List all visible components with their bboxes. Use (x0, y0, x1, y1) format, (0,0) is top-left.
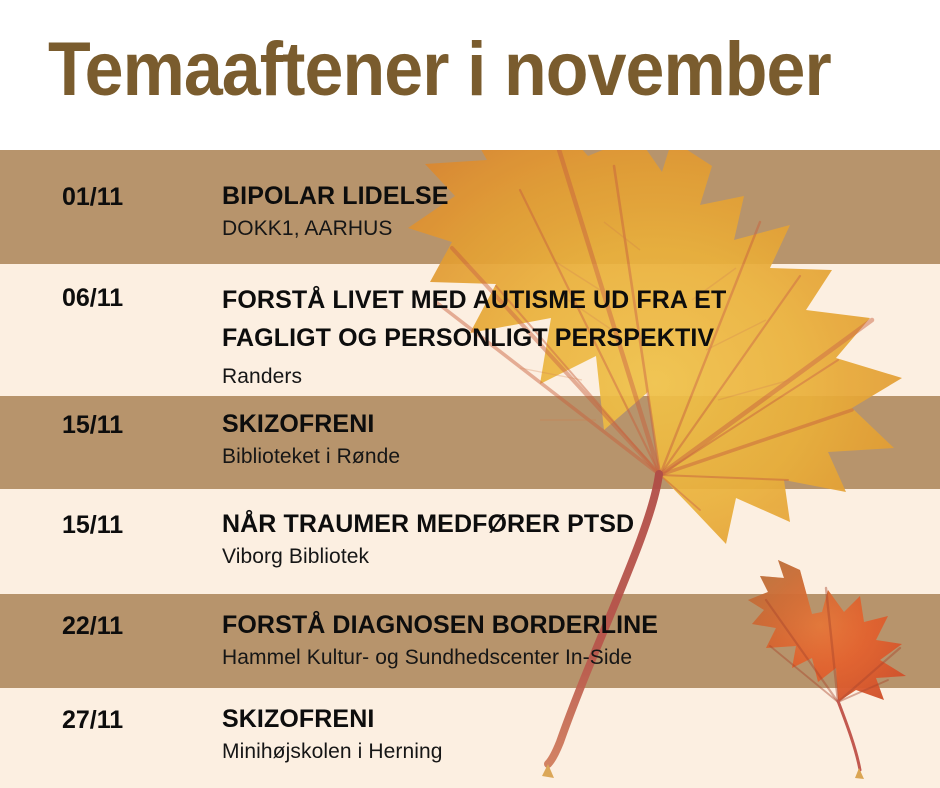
event-date: 15/11 (62, 411, 123, 440)
event-venue: Biblioteket i Rønde (222, 443, 922, 471)
schedule-row-6: 27/11 SKIZOFRENI Minihøjskolen i Herning (0, 688, 940, 788)
schedule-row-3: 15/11 SKIZOFRENI Biblioteket i Rønde (0, 396, 940, 489)
event-title: NÅR TRAUMER MEDFØRER PTSD (222, 508, 922, 541)
poster-header: Temaaftener i november (0, 0, 940, 150)
event-date: 27/11 (62, 706, 123, 735)
event-body: FORSTÅ LIVET MED AUTISME UD FRA ET FAGLI… (222, 281, 922, 391)
schedule-row-2: 06/11 FORSTÅ LIVET MED AUTISME UD FRA ET… (0, 264, 940, 396)
event-title: BIPOLAR LIDELSE (222, 180, 922, 213)
schedule-row-5: 22/11 FORSTÅ DIAGNOSEN BORDERLINE Hammel… (0, 594, 940, 688)
event-title: FORSTÅ LIVET MED AUTISME UD FRA ET FAGLI… (222, 281, 922, 357)
event-body: FORSTÅ DIAGNOSEN BORDERLINE Hammel Kultu… (222, 609, 922, 672)
event-venue: Viborg Bibliotek (222, 543, 922, 571)
event-title: SKIZOFRENI (222, 408, 922, 441)
event-venue: DOKK1, AARHUS (222, 215, 922, 243)
event-body: SKIZOFRENI Biblioteket i Rønde (222, 408, 922, 471)
event-title: FORSTÅ DIAGNOSEN BORDERLINE (222, 609, 922, 642)
event-date: 06/11 (62, 284, 123, 313)
schedule-row-1: 01/11 BIPOLAR LIDELSE DOKK1, AARHUS (0, 150, 940, 264)
event-body: SKIZOFRENI Minihøjskolen i Herning (222, 703, 922, 766)
schedule-row-4: 15/11 NÅR TRAUMER MEDFØRER PTSD Viborg B… (0, 489, 940, 594)
page-title: Temaaftener i november (48, 28, 831, 112)
event-date: 22/11 (62, 612, 123, 641)
event-body: NÅR TRAUMER MEDFØRER PTSD Viborg Bibliot… (222, 508, 922, 571)
event-venue: Randers (222, 363, 922, 391)
event-date: 01/11 (62, 183, 123, 212)
event-title: SKIZOFRENI (222, 703, 922, 736)
event-venue: Minihøjskolen i Herning (222, 738, 922, 766)
event-date: 15/11 (62, 511, 123, 540)
event-body: BIPOLAR LIDELSE DOKK1, AARHUS (222, 180, 922, 243)
event-venue: Hammel Kultur- og Sundhedscenter In-Side (222, 644, 922, 672)
poster-canvas: 01/11 BIPOLAR LIDELSE DOKK1, AARHUS 06/1… (0, 0, 940, 788)
